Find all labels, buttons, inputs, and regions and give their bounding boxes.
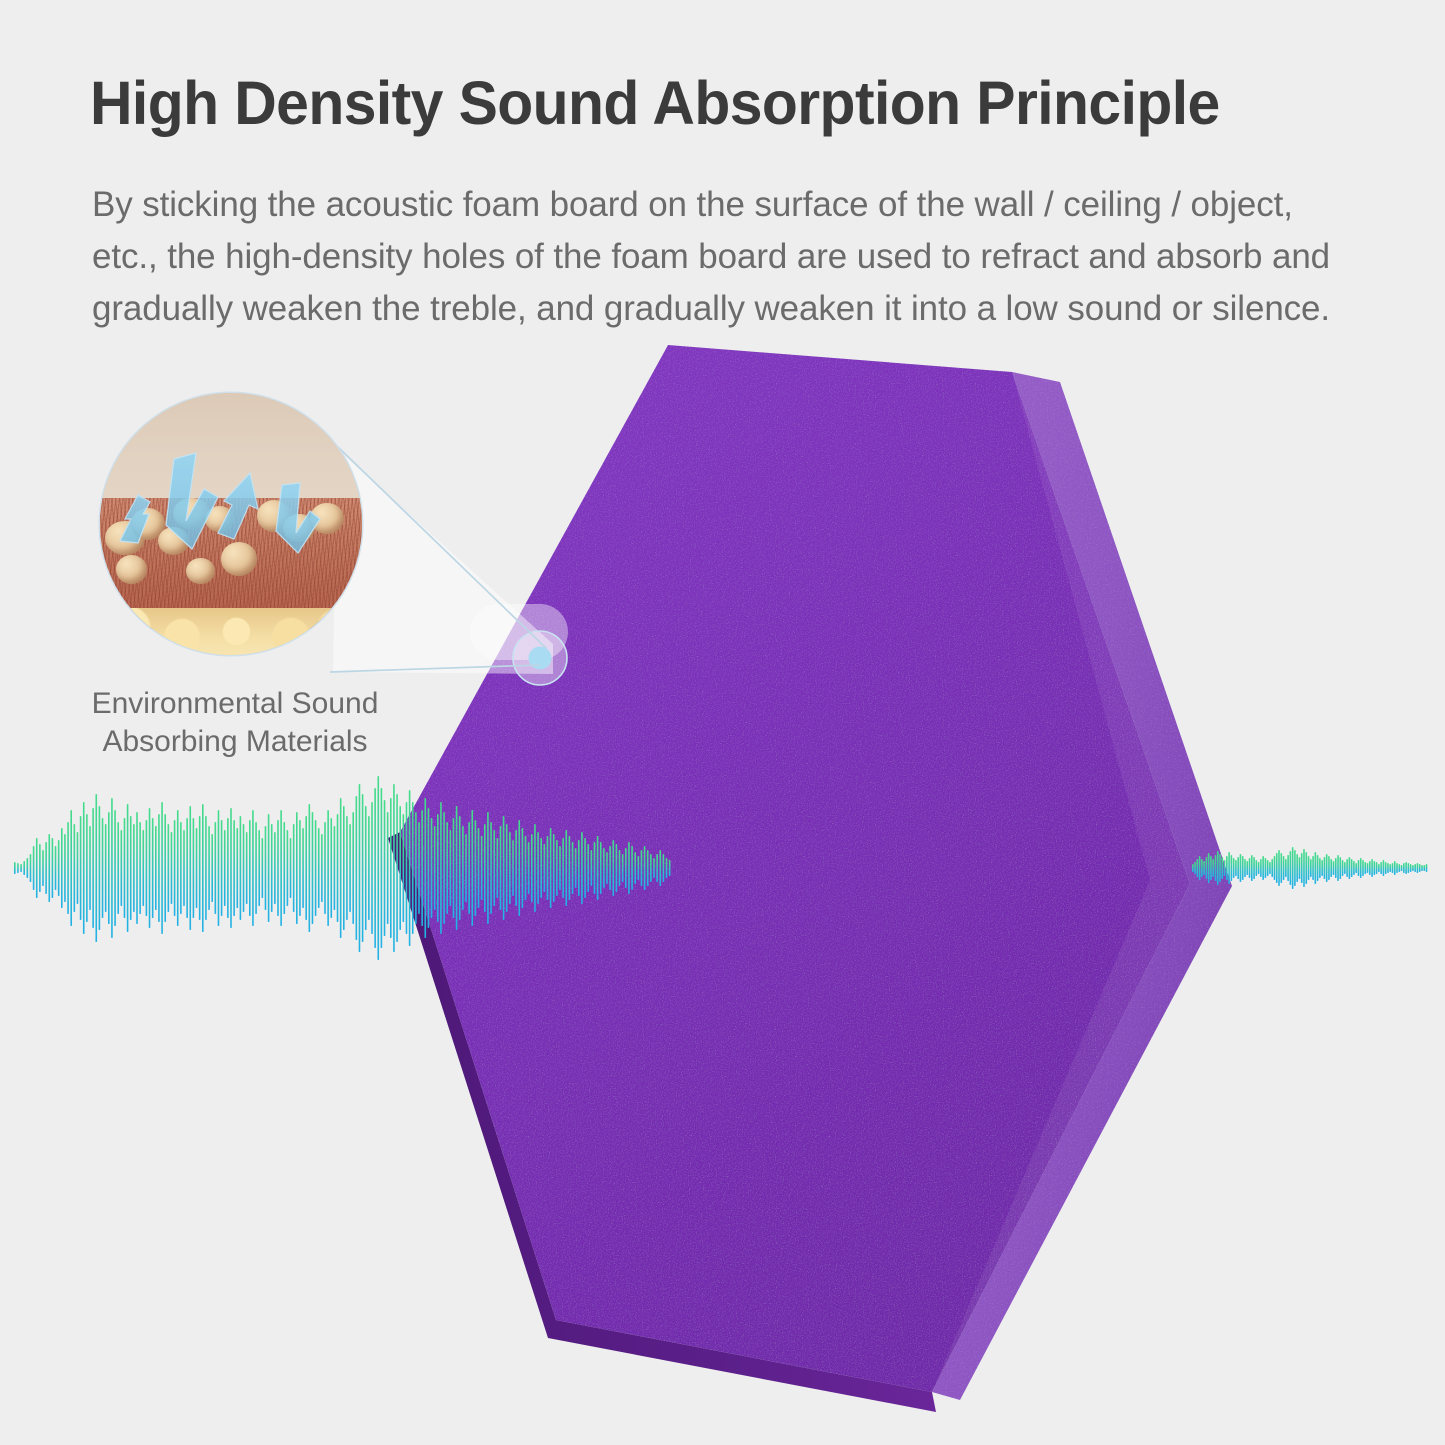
illustration-scene: Environmental Sound Absorbing Materials xyxy=(0,0,1445,1445)
sound-wave-refraction-arrows xyxy=(100,393,362,655)
magnified-foam-inset[interactable] xyxy=(100,393,362,655)
magnified-foam-cross-section-icon xyxy=(100,393,362,655)
inset-caption-line1: Environmental Sound xyxy=(60,685,410,723)
infographic-root: High Density Sound Absorption Principle … xyxy=(0,0,1445,1445)
inset-caption: Environmental Sound Absorbing Materials xyxy=(60,685,410,761)
inset-caption-line2: Absorbing Materials xyxy=(60,723,410,761)
